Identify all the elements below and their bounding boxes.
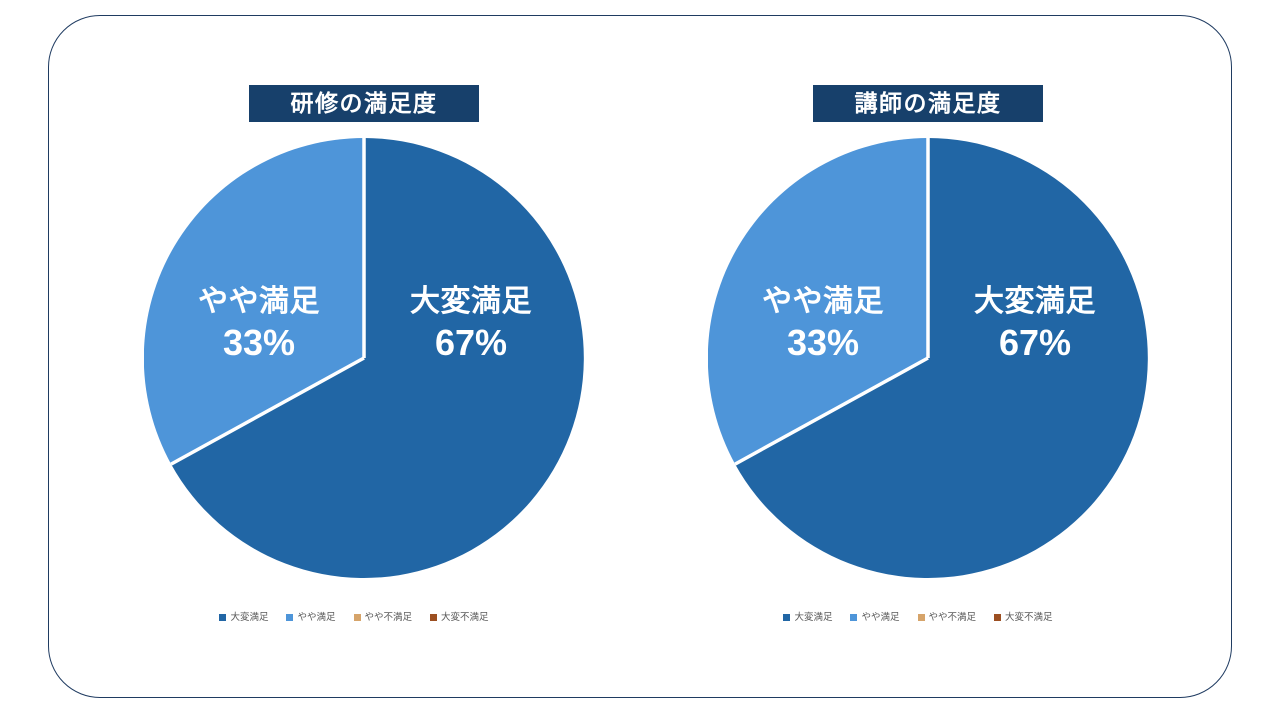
legend-item-somewhat-dissatisfied-instructor[interactable]: やや不満足 <box>918 613 977 623</box>
legend-swatch-very-satisfied-icon <box>219 614 226 621</box>
legend-label-very-dissatisfied-training: 大変不満足 <box>441 613 489 623</box>
legend-swatch-very-dissatisfied-icon <box>430 614 437 621</box>
legend-swatch-very-dissatisfied-icon <box>994 614 1001 621</box>
legend-swatch-very-satisfied-icon <box>783 614 790 621</box>
slide-frame: 研修の満足度 大変満足 67% やや満足 33% <box>48 15 1232 698</box>
pie-chart-training: 大変満足 67% やや満足 33% <box>144 138 584 578</box>
chart-panel-training: 研修の満足度 大変満足 67% やや満足 33% <box>94 16 614 699</box>
legend-swatch-somewhat-dissatisfied-icon <box>918 614 925 621</box>
chart-title-text-training: 研修の満足度 <box>291 92 438 115</box>
legend-label-somewhat-satisfied-training: やや満足 <box>297 613 335 623</box>
legend-label-somewhat-satisfied-instructor: やや満足 <box>861 613 899 623</box>
chart-legend-instructor: 大変満足 やや満足 やや不満足 大変不満足 <box>658 613 1178 623</box>
chart-legend-training: 大変満足 やや満足 やや不満足 大変不満足 <box>94 613 614 623</box>
legend-label-very-satisfied-training: 大変満足 <box>230 613 268 623</box>
chart-panel-instructor: 講師の満足度 大変満足 67% やや満足 33% 大変満足 <box>658 16 1178 699</box>
legend-item-very-dissatisfied-instructor[interactable]: 大変不満足 <box>994 613 1053 623</box>
legend-item-somewhat-satisfied-instructor[interactable]: やや満足 <box>850 613 899 623</box>
legend-item-very-dissatisfied-training[interactable]: 大変不満足 <box>430 613 489 623</box>
legend-swatch-somewhat-satisfied-icon <box>286 614 293 621</box>
pie-chart-svg-training <box>144 138 584 578</box>
legend-swatch-somewhat-dissatisfied-icon <box>354 614 361 621</box>
chart-title-banner-training: 研修の満足度 <box>249 85 479 122</box>
legend-label-very-satisfied-instructor: 大変満足 <box>794 613 832 623</box>
legend-item-very-satisfied-training[interactable]: 大変満足 <box>219 613 268 623</box>
legend-label-very-dissatisfied-instructor: 大変不満足 <box>1005 613 1053 623</box>
pie-chart-instructor: 大変満足 67% やや満足 33% <box>708 138 1148 578</box>
chart-title-banner-instructor: 講師の満足度 <box>813 85 1043 122</box>
chart-title-text-instructor: 講師の満足度 <box>855 92 1002 115</box>
legend-item-somewhat-dissatisfied-training[interactable]: やや不満足 <box>354 613 413 623</box>
legend-label-somewhat-dissatisfied-instructor: やや不満足 <box>929 613 977 623</box>
legend-swatch-somewhat-satisfied-icon <box>850 614 857 621</box>
legend-label-somewhat-dissatisfied-training: やや不満足 <box>365 613 413 623</box>
pie-chart-svg-instructor <box>708 138 1148 578</box>
legend-item-very-satisfied-instructor[interactable]: 大変満足 <box>783 613 832 623</box>
legend-item-somewhat-satisfied-training[interactable]: やや満足 <box>286 613 335 623</box>
